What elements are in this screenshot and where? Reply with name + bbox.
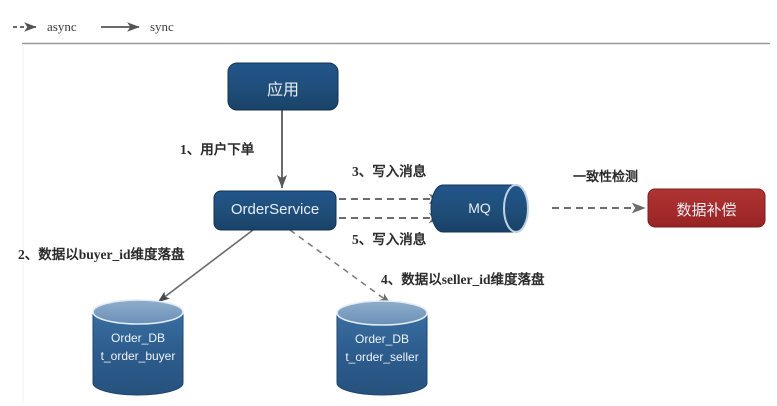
edge-5-label: 5、写入消息 [352, 228, 426, 248]
architecture-diagram [0, 0, 777, 406]
edge-2-persist-by-buyer-id [158, 230, 253, 302]
node-db-order-buyer[interactable] [93, 300, 183, 395]
node-app[interactable] [228, 63, 338, 110]
edge-6-label: 一致性检测 [573, 166, 638, 185]
legend-label-async: async [47, 19, 77, 35]
legend-label-sync: sync [150, 19, 174, 35]
diagram-canvas: async sync 应用 OrderService MQ 数据补偿 Order… [0, 0, 777, 406]
edge-2-label: 2、数据以buyer_id维度落盘 [18, 243, 185, 263]
node-mq[interactable] [431, 185, 528, 232]
node-db-order-seller[interactable] [337, 301, 427, 395]
edge-1-label: 1、用户下单 [180, 138, 254, 158]
edge-3-label: 3、写入消息 [352, 160, 426, 180]
node-data-compensation[interactable] [648, 189, 765, 227]
node-order-service[interactable] [214, 191, 336, 230]
edge-4-label: 4、数据以seller_id维度落盘 [381, 268, 545, 288]
